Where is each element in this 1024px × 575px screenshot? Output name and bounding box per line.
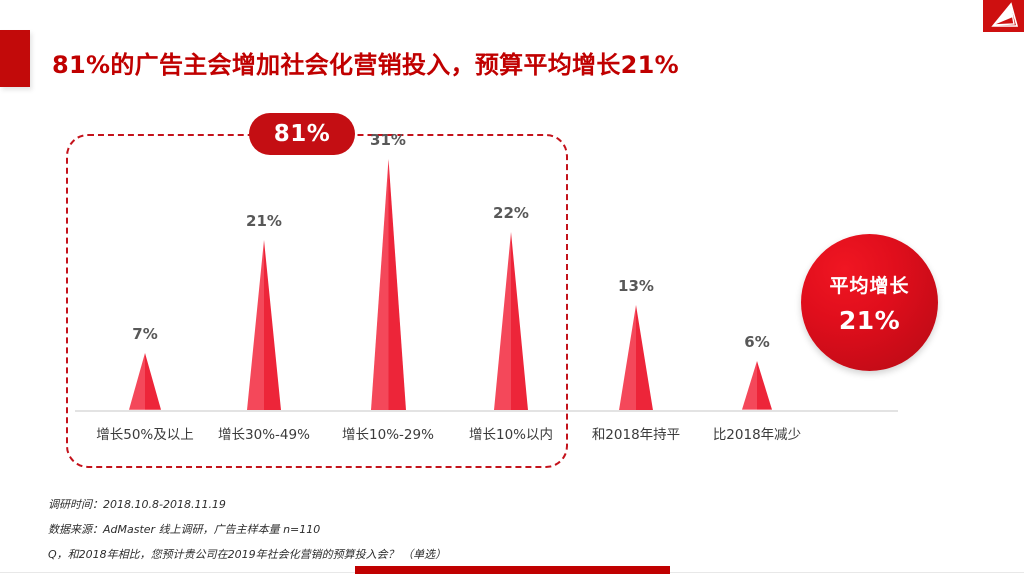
category-label: 和2018年持平	[571, 423, 701, 443]
average-growth-callout: 平均增长 21%	[801, 234, 938, 371]
highlight-dashed-box	[66, 134, 568, 468]
footnote-question: Q，和2018年相比，您预计贵公司在2019年社会化营销的预算投入会？ （单选）	[48, 546, 446, 562]
category-label: 比2018年减少	[692, 423, 822, 443]
bar-group[interactable]	[619, 305, 653, 410]
bar-cone	[619, 305, 653, 410]
bar-value-label: 13%	[571, 277, 701, 295]
footnote-data-source: 数据来源：AdMaster 线上调研，广告主样本量 n=110	[48, 521, 320, 537]
admaster-logo	[983, 0, 1024, 32]
slide-canvas: 81%的广告主会增加社会化营销投入，预算平均增长21% 81% 7%增长50%及…	[0, 0, 1024, 575]
footnote-survey-period: 调研时间：2018.10.8-2018.11.19	[48, 496, 226, 512]
page-title: 81%的广告主会增加社会化营销投入，预算平均增长21%	[52, 45, 679, 80]
bar-cone	[742, 361, 772, 410]
bar-group[interactable]	[742, 361, 772, 410]
bottom-accent-bar	[355, 566, 670, 574]
bar-value-label: 6%	[692, 333, 822, 351]
title-accent-bar	[0, 30, 30, 87]
highlight-badge: 81%	[249, 113, 355, 155]
callout-value: 21%	[839, 306, 900, 335]
callout-label: 平均增长	[829, 271, 909, 298]
